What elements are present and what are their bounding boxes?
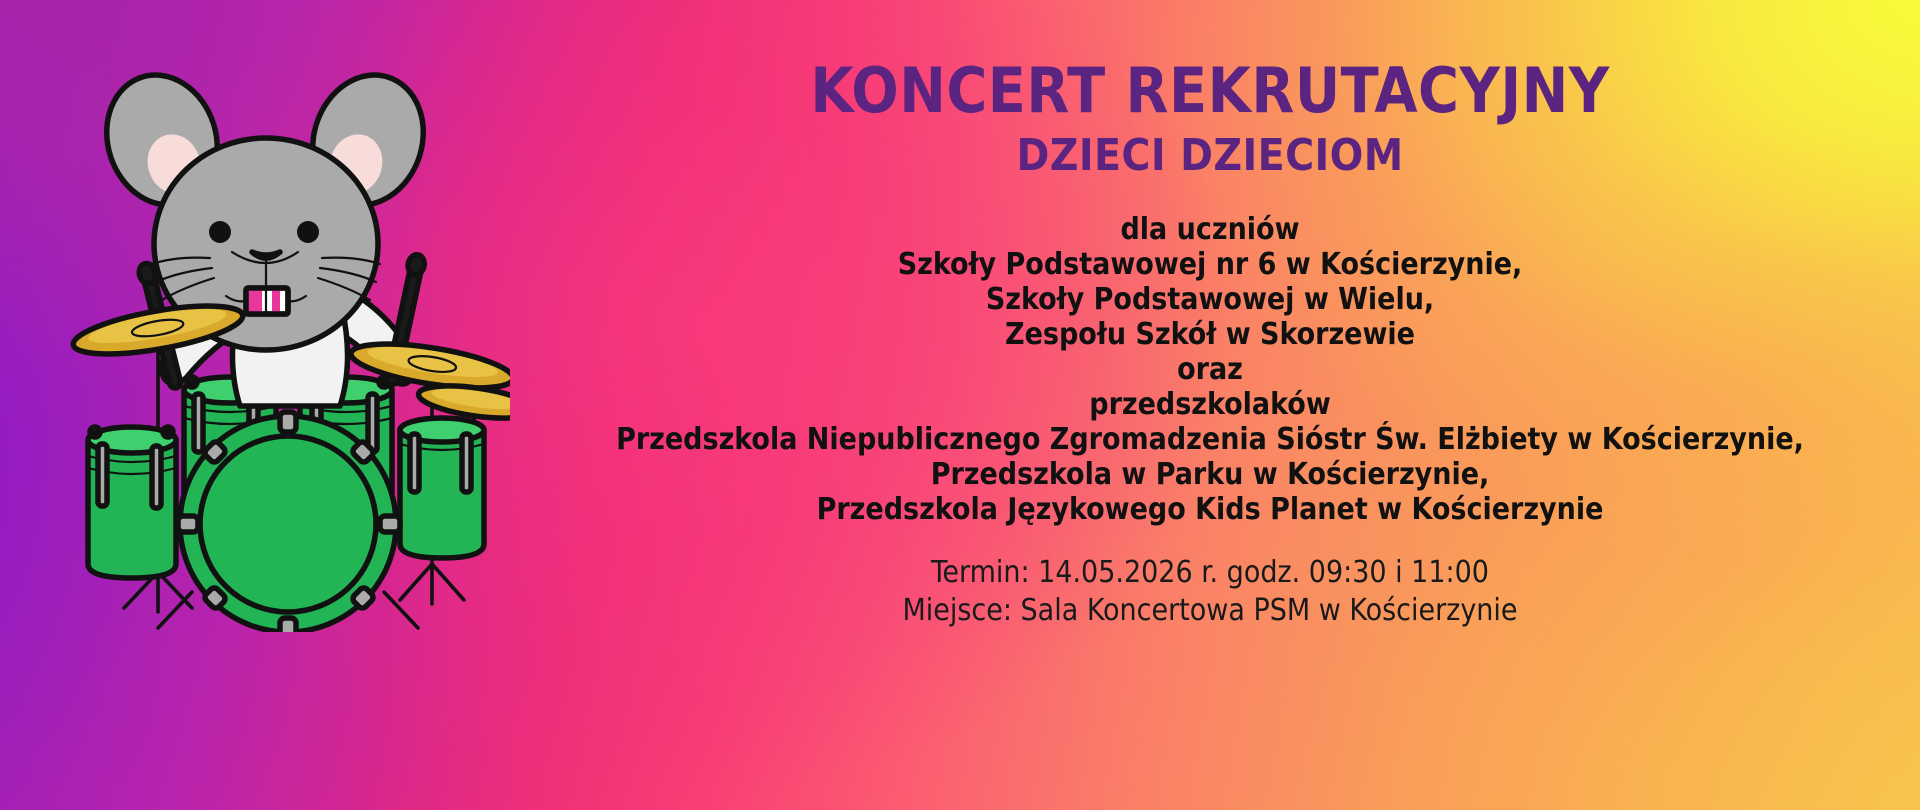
event-details-block: Termin: 14.05.2026 r. godz. 09:30 i 11:0… [902,554,1517,630]
body-line: Zespołu Szkół w Skorzewie [616,317,1804,352]
mouse-drummer-illustration: .ol { stroke:#111111; stroke-width:5.5; … [40,72,510,632]
body-line: Przedszkola Językowego Kids Planet w Koś… [616,492,1804,527]
page-subtitle: DZIECI DZIECIOM [1016,131,1403,182]
body-line: przedszkolaków [616,387,1804,422]
body-line: Przedszkola Niepublicznego Zgromadzenia … [616,422,1804,457]
body-line: Przedszkola w Parku w Kościerzynie, [616,457,1804,492]
event-date-line: Termin: 14.05.2026 r. godz. 09:30 i 11:0… [902,554,1517,592]
poster-canvas: .ol { stroke:#111111; stroke-width:5.5; … [0,0,1920,810]
body-text-block: dla uczniów Szkoły Podstawowej nr 6 w Ko… [616,212,1804,527]
body-line: dla uczniów [616,212,1804,247]
event-venue-line: Miejsce: Sala Koncertowa PSM w Kościerzy… [902,592,1517,630]
page-title: KONCERT REKRUTACYJNY [810,58,1609,125]
body-line: Szkoły Podstawowej w Wielu, [616,282,1804,317]
body-line: oraz [616,352,1804,387]
body-line: Szkoły Podstawowej nr 6 w Kościerzynie, [616,247,1804,282]
poster-text-column: KONCERT REKRUTACYJNY DZIECI DZIECIOM dla… [500,0,1920,810]
